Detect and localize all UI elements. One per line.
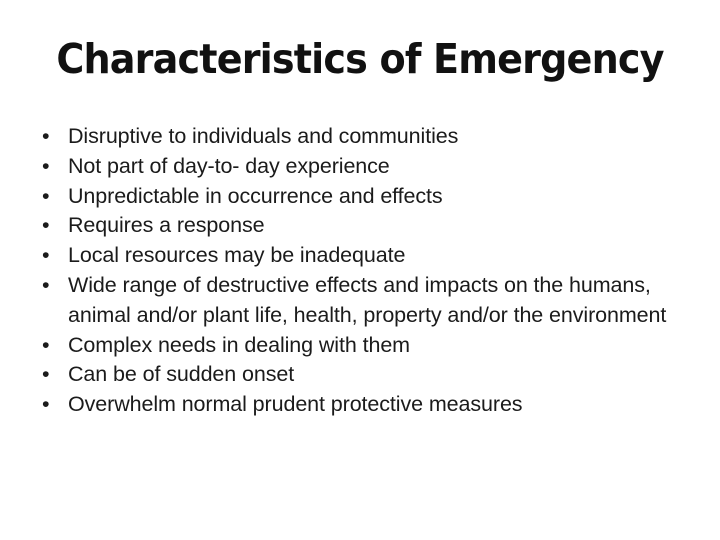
list-item-label: Disruptive to individuals and communitie… [68,122,674,152]
bullet-marker-icon: • [42,182,56,212]
slide-canvas: Characteristics of Emergency • Disruptiv… [0,0,720,540]
bullet-list: • Disruptive to individuals and communit… [38,122,674,420]
list-item: • Local resources may be inadequate [38,241,674,271]
list-item: • Complex needs in dealing with them [38,331,674,361]
list-item-label: Not part of day-to- day experience [68,152,674,182]
list-item-label: Wide range of destructive effects and im… [68,271,674,331]
list-item: • Requires a response [38,211,674,241]
list-item: • Disruptive to individuals and communit… [38,122,674,152]
bullet-marker-icon: • [42,122,56,152]
bullet-marker-icon: • [42,271,56,301]
list-item: • Overwhelm normal prudent protective me… [38,390,674,420]
bullet-marker-icon: • [42,152,56,182]
bullet-marker-icon: • [42,331,56,361]
page-title: Characteristics of Emergency [25,34,695,84]
list-item-label: Can be of sudden onset [68,360,674,390]
bullet-marker-icon: • [42,390,56,420]
list-item-label: Unpredictable in occurrence and effects [68,182,674,212]
list-item: • Not part of day-to- day experience [38,152,674,182]
list-item: • Can be of sudden onset [38,360,674,390]
list-item-label: Local resources may be inadequate [68,241,674,271]
bullet-marker-icon: • [42,241,56,271]
bullet-marker-icon: • [42,211,56,241]
list-item-label: Complex needs in dealing with them [68,331,674,361]
list-item-label: Overwhelm normal prudent protective meas… [68,390,674,420]
list-item-label: Requires a response [68,211,674,241]
list-item: • Unpredictable in occurrence and effect… [38,182,674,212]
bullet-marker-icon: • [42,360,56,390]
list-item: • Wide range of destructive effects and … [38,271,674,331]
